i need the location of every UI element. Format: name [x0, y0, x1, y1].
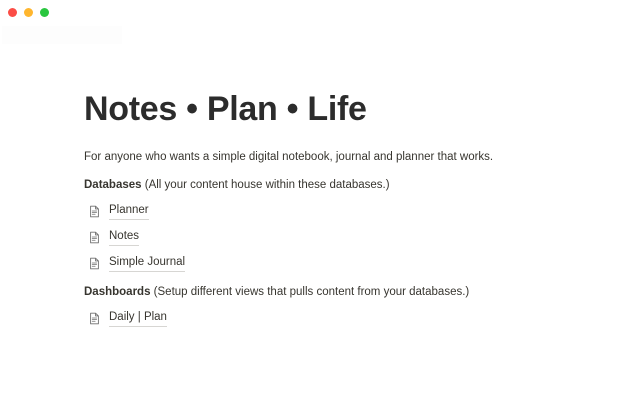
page-intro-text: For anyone who wants a simple digital no… — [84, 130, 640, 166]
document-icon — [88, 205, 101, 218]
section-name-dashboards: Dashboards — [84, 286, 150, 298]
section-note-dashboards: (Setup different views that pulls conten… — [154, 286, 470, 298]
window-controls — [8, 8, 49, 17]
document-icon — [88, 257, 101, 270]
close-button[interactable] — [8, 8, 17, 17]
section-name-databases: Databases — [84, 179, 142, 191]
list-item-label[interactable]: Planner — [109, 203, 149, 220]
section-note-databases: (All your content house within these dat… — [145, 179, 390, 191]
list-item[interactable]: Daily | Plan — [84, 301, 640, 327]
minimize-button[interactable] — [24, 8, 33, 17]
page-title: Notes • Plan • Life — [84, 24, 640, 130]
document-icon — [88, 231, 101, 244]
dashboard-link-list: Daily | Plan — [84, 301, 640, 327]
section-heading-databases: Databases (All your content house within… — [84, 165, 640, 194]
list-item[interactable]: Planner — [84, 194, 640, 220]
maximize-button[interactable] — [40, 8, 49, 17]
list-item[interactable]: Notes — [84, 220, 640, 246]
list-item-label[interactable]: Notes — [109, 229, 139, 246]
list-item[interactable]: Simple Journal — [84, 246, 640, 272]
section-heading-dashboards: Dashboards (Setup different views that p… — [84, 272, 640, 301]
list-item-label[interactable]: Simple Journal — [109, 255, 185, 272]
chrome-ghost-area — [2, 26, 122, 44]
window-titlebar — [0, 0, 640, 24]
database-link-list: Planner Notes Simple Journal — [84, 194, 640, 272]
document-icon — [88, 312, 101, 325]
list-item-label[interactable]: Daily | Plan — [109, 310, 167, 327]
page-content: Notes • Plan • Life For anyone who wants… — [0, 24, 640, 327]
